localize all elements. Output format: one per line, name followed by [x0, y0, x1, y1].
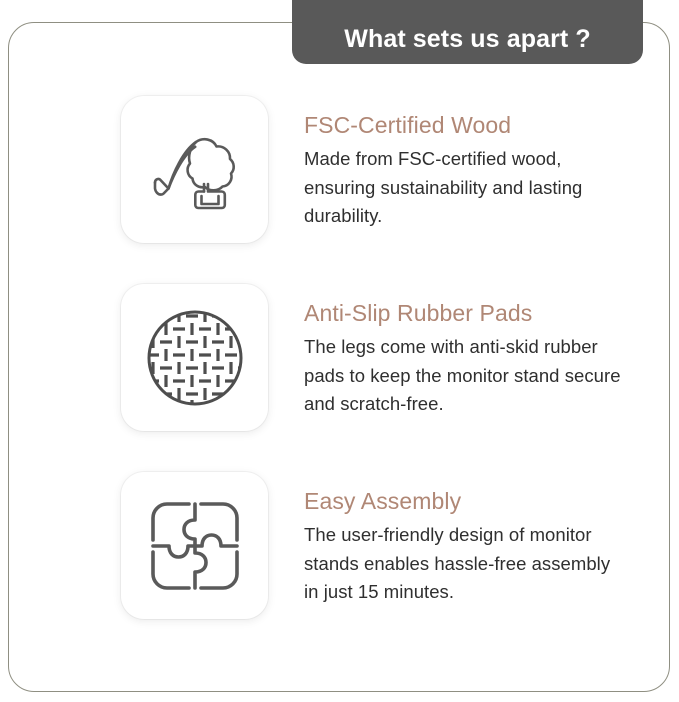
- feature-description: The user-friendly design of monitor stan…: [304, 521, 624, 607]
- feature-text: FSC-Certified Wood Made from FSC-certifi…: [268, 96, 624, 231]
- feature-text: Easy Assembly The user-friendly design o…: [268, 472, 624, 607]
- page-title: What sets us apart ?: [344, 27, 591, 52]
- feature-item-anti-slip-rubber-pads: Anti-Slip Rubber Pads The legs come with…: [0, 284, 679, 431]
- feature-item-fsc-certified-wood: FSC-Certified Wood Made from FSC-certifi…: [0, 96, 679, 243]
- feature-highlights-panel: What sets us apart ?: [0, 0, 679, 702]
- feature-icon-tile: [121, 96, 268, 243]
- feature-item-easy-assembly: Easy Assembly The user-friendly design o…: [0, 472, 679, 619]
- feature-description: The legs come with anti-skid rubber pads…: [304, 333, 624, 419]
- feature-title: Anti-Slip Rubber Pads: [304, 299, 624, 327]
- jigsaw-puzzle-icon: [145, 496, 245, 596]
- feature-text: Anti-Slip Rubber Pads The legs come with…: [268, 284, 624, 419]
- feature-icon-tile: [121, 472, 268, 619]
- fsc-tree-checkmark-icon: [143, 118, 247, 222]
- header-banner: What sets us apart ?: [292, 0, 643, 64]
- feature-list: FSC-Certified Wood Made from FSC-certifi…: [0, 96, 679, 660]
- feature-icon-tile: [121, 284, 268, 431]
- woven-rubber-pad-icon: [143, 306, 247, 410]
- feature-title: Easy Assembly: [304, 487, 624, 515]
- feature-title: FSC-Certified Wood: [304, 111, 624, 139]
- feature-description: Made from FSC-certified wood, ensuring s…: [304, 145, 624, 231]
